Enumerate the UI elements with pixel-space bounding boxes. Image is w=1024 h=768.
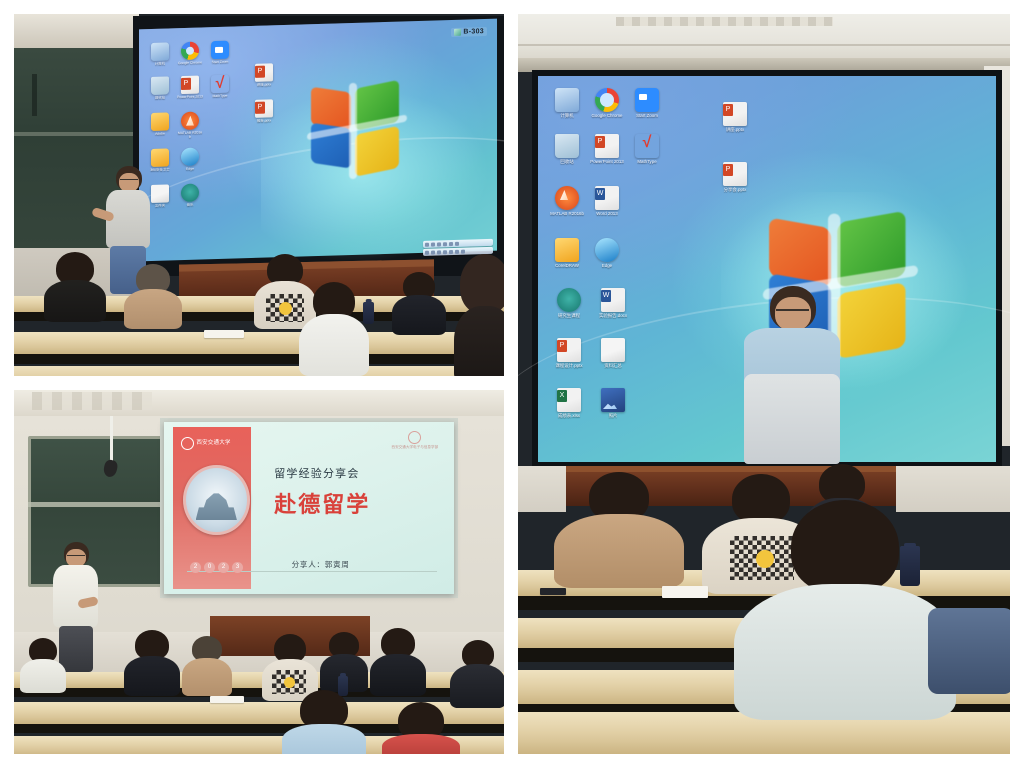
- slide-presenter: 分享人：郭寅周: [292, 559, 350, 570]
- desktop-file-course-design[interactable]: 课程设计.pptx: [550, 338, 588, 368]
- matlab-icon: [555, 186, 579, 210]
- hanging-mic-cable: [110, 416, 113, 462]
- desktop-icon-course-folder[interactable]: 研究生课程: [550, 288, 588, 318]
- edge-icon: [181, 148, 199, 167]
- student-back-figure-checker: [262, 634, 318, 698]
- paper-on-desk: [204, 330, 244, 338]
- powerpoint-icon: [181, 76, 199, 95]
- glasses-icon: [67, 555, 85, 559]
- student-back-figure: [554, 472, 684, 582]
- desktop-icon-coreldraw[interactable]: CorelDRAW: [550, 238, 584, 268]
- powerpoint-icon: [595, 134, 619, 158]
- secondary-logo: 西安交通大学电子与信息学部: [390, 431, 439, 453]
- student-back-figure: [124, 264, 182, 324]
- ceiling-grille: [616, 17, 832, 26]
- projected-desktop-c[interactable]: 计算机 Google Chrome Start Zoom 回收站 PowerPo…: [538, 76, 996, 462]
- student-back-figure: [44, 252, 106, 318]
- university-logo: 西安交通大学: [181, 434, 245, 453]
- desktop-icon-matlab[interactable]: MATLAB R2016b: [550, 186, 584, 216]
- matlab-icon: [181, 112, 199, 131]
- zoom-icon: [211, 41, 229, 60]
- ceiling-strip: [14, 14, 139, 48]
- course-folder-icon: [557, 288, 581, 312]
- shield-icon: [151, 148, 169, 167]
- secondary-seal-icon: [408, 431, 421, 444]
- recycle-bin-icon: [555, 134, 579, 158]
- thermos-bottle: [900, 546, 920, 586]
- word-icon: [595, 186, 619, 210]
- campus-medallion-image: [183, 465, 250, 535]
- student-torso: [299, 314, 369, 376]
- desktop-icon-powerpoint[interactable]: PowerPoint 2013: [177, 75, 203, 99]
- photo-collage: 计算机 Google Chrome Start Zoom 回收站 PowerPo…: [0, 0, 1024, 768]
- desktop-file-ppt-1[interactable]: 讲座.pptx: [716, 102, 754, 132]
- document-icon: [601, 338, 625, 362]
- desk-row: [14, 672, 504, 688]
- student-torso: [282, 724, 366, 754]
- zoom-icon: [635, 88, 659, 112]
- powerpoint-file-icon: [723, 162, 747, 186]
- computer-icon: [151, 42, 169, 61]
- wall-edge: [32, 74, 37, 116]
- student-head: [791, 500, 899, 594]
- desktop-icon-mathtype[interactable]: MathType: [207, 75, 233, 99]
- desktop-icon-zoom[interactable]: Start Zoom: [207, 41, 233, 65]
- student-back-figure: [124, 630, 180, 692]
- year-digit: 2: [190, 562, 201, 573]
- student-torso: [554, 514, 684, 588]
- student-back-figure: [182, 636, 232, 692]
- desk-row: [14, 332, 504, 354]
- student-back-figure-front: [299, 282, 369, 376]
- student-back-figure-front: [382, 702, 460, 754]
- backpack: [928, 608, 1010, 694]
- desktop-icon-chrome[interactable]: Google Chrome: [177, 41, 203, 65]
- thermos-bottle: [363, 302, 374, 324]
- university-seal-icon: [181, 437, 194, 450]
- photo-bottom-left[interactable]: 西安交通大学 西安交通大学电子与信息学部 留学经验分享会 赴德留学 分享人：郭寅…: [14, 390, 504, 754]
- slide-year: 2 0 2 3: [190, 562, 243, 573]
- desktop-icon-zoom[interactable]: Start Zoom: [630, 88, 664, 118]
- student-head: [460, 254, 504, 314]
- powerpoint-file-icon: [255, 63, 273, 82]
- glasses-icon: [776, 309, 809, 314]
- music-icon: [181, 184, 199, 203]
- desktop-file-materials[interactable]: 资料汇总: [594, 338, 632, 368]
- projected-desktop-a[interactable]: 计算机 Google Chrome Start Zoom 回收站 PowerPo…: [139, 19, 497, 262]
- windows-logo: [309, 89, 405, 180]
- speaker-shirt: [744, 374, 840, 464]
- student-back-figure-front: [282, 690, 366, 754]
- student-torso: [124, 289, 182, 329]
- speaker-figure-c: [738, 286, 846, 462]
- student-torso: [370, 654, 426, 696]
- year-digit: 3: [232, 562, 243, 573]
- student-torso: [392, 295, 446, 335]
- student-back-figure-front: [734, 500, 956, 714]
- desktop-icon-powerpoint[interactable]: PowerPoint 2013: [590, 134, 624, 164]
- student-torso: [124, 656, 180, 696]
- adobe-icon: [151, 112, 169, 131]
- student-torso: [734, 584, 956, 720]
- desktop-icon-computer[interactable]: 计算机: [550, 88, 584, 118]
- chrome-icon: [181, 42, 199, 61]
- paper-on-desk: [662, 586, 708, 598]
- photo-right[interactable]: 计算机 Google Chrome Start Zoom 回收站 PowerPo…: [518, 14, 1010, 754]
- student-torso: [44, 280, 106, 322]
- year-digit: 2: [218, 562, 229, 573]
- desktop-folder-photos[interactable]: 照片: [594, 388, 632, 418]
- chrome-icon: [595, 88, 619, 112]
- student-torso: [182, 658, 232, 696]
- desktop-file-ppt-1[interactable]: 讲座.pptx: [251, 63, 277, 87]
- student-torso: [20, 659, 66, 693]
- desktop-icon-matlab[interactable]: MATLAB R2016b: [177, 111, 203, 139]
- desktop-file-report[interactable]: 实验报告.docx: [594, 288, 632, 318]
- paper-on-desk: [210, 696, 244, 703]
- chalk-rail: [14, 132, 139, 136]
- photo-top-left[interactable]: 计算机 Google Chrome Start Zoom 回收站 PowerPo…: [14, 14, 504, 376]
- desktop-file-ppt-2[interactable]: 报告.pptx: [251, 99, 277, 123]
- desktop-icon-edge[interactable]: Edge: [177, 147, 203, 171]
- projected-title-slide[interactable]: 西安交通大学 西安交通大学电子与信息学部 留学经验分享会 赴德留学 分享人：郭寅…: [164, 422, 454, 594]
- ceiling-seam: [518, 44, 1010, 46]
- desktop-file-grades[interactable]: 成绩表.xlsx: [550, 388, 588, 418]
- powerpoint-file-icon: [557, 338, 581, 362]
- word-file-icon: [601, 288, 625, 312]
- mathtype-icon: [211, 75, 229, 94]
- slide-title: 赴德留学: [274, 487, 370, 519]
- edge-icon: [595, 238, 619, 262]
- student-back-figure: [392, 272, 446, 330]
- computer-icon: [555, 88, 579, 112]
- student-back-figure: [20, 638, 66, 690]
- student-back-figure: [370, 628, 426, 690]
- ceiling-grille: [32, 392, 152, 410]
- student-back-figure-edge: [454, 254, 504, 376]
- desktop-icon-recycle-bin[interactable]: 回收站: [550, 134, 584, 164]
- speaker-face: [775, 297, 811, 331]
- coreldraw-icon: [555, 238, 579, 262]
- picture-icon: [601, 388, 625, 412]
- desktop-icon-mathtype[interactable]: MathType: [630, 134, 664, 164]
- recycle-bin-icon: [151, 76, 169, 95]
- desktop-file-ppt-2[interactable]: 分享会.pptx: [716, 162, 754, 192]
- thermos-bottle: [338, 676, 348, 696]
- desktop-icon-music[interactable]: 音乐: [177, 183, 203, 207]
- student-torso: [382, 734, 460, 754]
- mathtype-icon: [635, 134, 659, 158]
- excel-icon: [557, 388, 581, 412]
- desk-shadow-gap: [14, 354, 504, 364]
- slide-subtitle: 留学经验分享会: [274, 465, 359, 481]
- student-backpack-figure: [928, 584, 1010, 694]
- desktop-icon-computer[interactable]: 计算机: [147, 42, 173, 66]
- projector-icon: [454, 29, 461, 36]
- year-digit: 0: [204, 562, 215, 573]
- ceiling-strip: [14, 390, 504, 416]
- smiley-print: [279, 302, 292, 315]
- desktop-icon-edge[interactable]: Edge: [590, 238, 624, 268]
- desktop-icon-recycle-bin[interactable]: 回收站: [147, 76, 173, 100]
- powerpoint-file-icon: [255, 99, 273, 118]
- desktop-icon-chrome[interactable]: Google Chrome: [590, 88, 624, 118]
- powerpoint-file-icon: [723, 102, 747, 126]
- desk-row: [14, 366, 504, 376]
- glasses-icon: [120, 179, 138, 183]
- smiley-print: [284, 677, 295, 688]
- phone-on-desk: [540, 588, 566, 595]
- room-number-tag: B-303: [451, 27, 487, 37]
- desk-shadow-gap: [14, 688, 504, 697]
- desktop-icon-word[interactable]: Word 2013: [590, 186, 624, 216]
- desktop-icon-adobe[interactable]: Adobe: [147, 112, 173, 136]
- student-torso: [454, 306, 504, 376]
- student-back-figure: [450, 640, 504, 704]
